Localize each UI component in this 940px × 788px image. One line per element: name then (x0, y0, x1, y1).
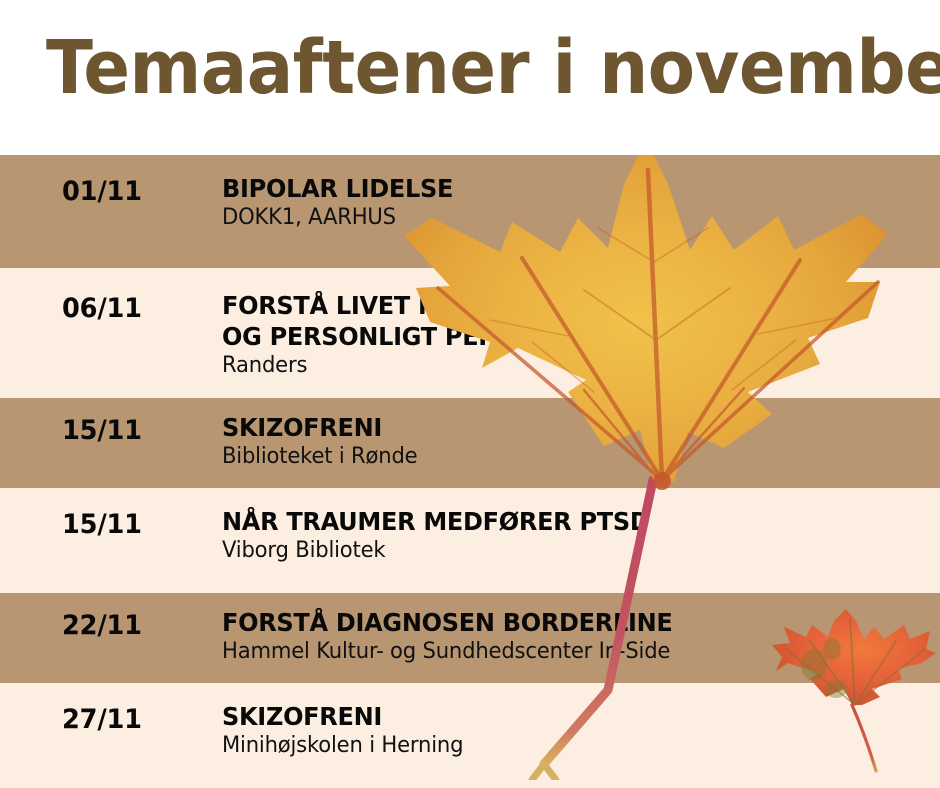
event-venue: DOKK1, AARHUS (222, 204, 894, 232)
event-date: 01/11 (62, 177, 142, 207)
event-row[interactable]: 01/11BIPOLAR LIDELSEDOKK1, AARHUS (0, 155, 940, 268)
event-row-inner: 06/11FORSTÅ LIVET MED AUTISME UD FRA ET … (0, 268, 940, 398)
event-title: BIPOLAR LIDELSE (222, 173, 894, 204)
event-row[interactable]: 15/11SKIZOFRENIBiblioteket i Rønde (0, 398, 940, 488)
event-details: SKIZOFRENIMinihøjskolen i Herning (222, 701, 922, 760)
event-row[interactable]: 22/11FORSTÅ DIAGNOSEN BORDERLINEHammel K… (0, 593, 940, 683)
poster-canvas: 01/11BIPOLAR LIDELSEDOKK1, AARHUS06/11FO… (0, 0, 940, 788)
event-venue: Minihøjskolen i Herning (222, 732, 894, 760)
event-date: 27/11 (62, 705, 142, 735)
event-title: FORSTÅ DIAGNOSEN BORDERLINE (222, 607, 894, 638)
event-title: SKIZOFRENI (222, 412, 894, 443)
event-venue: Randers (222, 352, 894, 380)
event-row-inner: 15/11NÅR TRAUMER MEDFØRER PTSDViborg Bib… (0, 488, 940, 593)
event-date: 15/11 (62, 510, 142, 540)
event-venue: Viborg Bibliotek (222, 537, 894, 565)
title-area: Temaaftener i november (0, 0, 940, 155)
event-date: 06/11 (62, 294, 142, 324)
event-venue: Biblioteket i Rønde (222, 443, 894, 471)
page-title: Temaaftener i november (46, 22, 846, 114)
event-row[interactable]: 27/11SKIZOFRENIMinihøjskolen i Herning (0, 683, 940, 788)
event-row-inner: 15/11SKIZOFRENIBiblioteket i Rønde (0, 398, 940, 488)
event-details: BIPOLAR LIDELSEDOKK1, AARHUS (222, 173, 922, 232)
event-row-inner: 01/11BIPOLAR LIDELSEDOKK1, AARHUS (0, 155, 940, 268)
event-date: 15/11 (62, 416, 142, 446)
event-title: SKIZOFRENI (222, 701, 894, 732)
event-row[interactable]: 15/11NÅR TRAUMER MEDFØRER PTSDViborg Bib… (0, 488, 940, 593)
event-details: SKIZOFRENIBiblioteket i Rønde (222, 412, 922, 471)
event-row-inner: 27/11SKIZOFRENIMinihøjskolen i Herning (0, 683, 940, 788)
event-details: FORSTÅ LIVET MED AUTISME UD FRA ET FAGLI… (222, 290, 922, 380)
event-details: FORSTÅ DIAGNOSEN BORDERLINEHammel Kultur… (222, 607, 922, 666)
event-venue: Hammel Kultur- og Sundhedscenter In-Side (222, 638, 894, 666)
event-row[interactable]: 06/11FORSTÅ LIVET MED AUTISME UD FRA ET … (0, 268, 940, 398)
event-row-inner: 22/11FORSTÅ DIAGNOSEN BORDERLINEHammel K… (0, 593, 940, 683)
event-title: FORSTÅ LIVET MED AUTISME UD FRA ET FAGLI… (222, 290, 894, 352)
event-list: 01/11BIPOLAR LIDELSEDOKK1, AARHUS06/11FO… (0, 155, 940, 788)
event-date: 22/11 (62, 611, 142, 641)
event-details: NÅR TRAUMER MEDFØRER PTSDViborg Bibliote… (222, 506, 922, 565)
event-title: NÅR TRAUMER MEDFØRER PTSD (222, 506, 894, 537)
